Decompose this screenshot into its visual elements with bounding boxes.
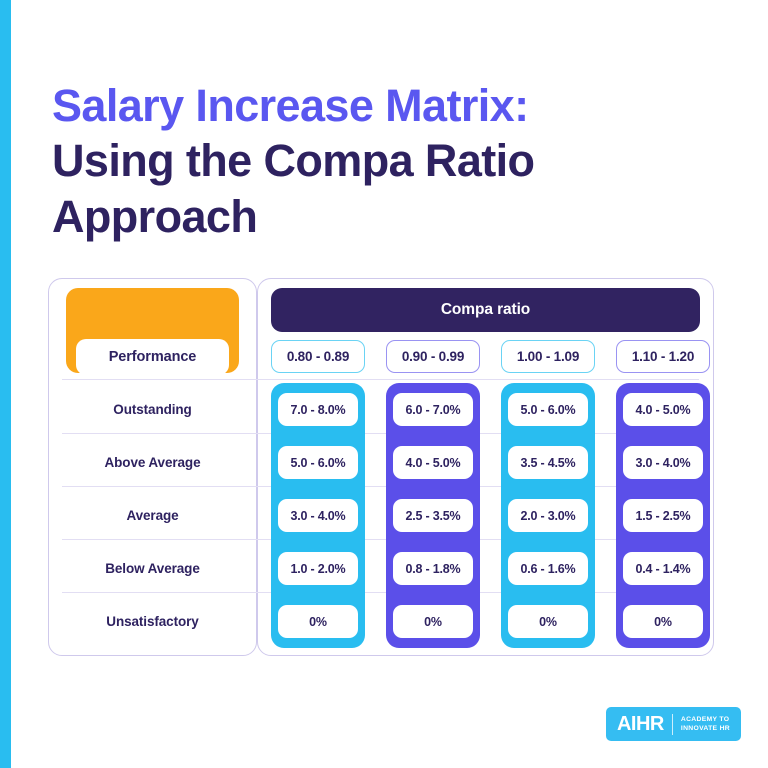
aihr-logo-tagline-line-1: ACADEMY TO xyxy=(681,716,729,723)
page-title-line-2: Using the Compa Ratio xyxy=(52,135,534,186)
matrix-cell: 0.8 - 1.8% xyxy=(393,552,473,585)
column-header-2: 1.00 - 1.09 xyxy=(501,340,595,373)
matrix-cell: 1.0 - 2.0% xyxy=(278,552,358,585)
salary-increase-matrix: Performance Compa ratio Outstanding Abov… xyxy=(48,278,714,656)
column-track-1: 6.0 - 7.0% 4.0 - 5.0% 2.5 - 3.5% 0.8 - 1… xyxy=(386,383,480,648)
row-divider xyxy=(62,379,699,380)
matrix-cell: 2.5 - 3.5% xyxy=(393,499,473,532)
matrix-cell: 4.0 - 5.0% xyxy=(393,446,473,479)
column-header-3: 1.10 - 1.20 xyxy=(616,340,710,373)
matrix-cell: 7.0 - 8.0% xyxy=(278,393,358,426)
matrix-cell: 0.6 - 1.6% xyxy=(508,552,588,585)
column-header-0: 0.80 - 0.89 xyxy=(271,340,365,373)
matrix-cell: 1.5 - 2.5% xyxy=(623,499,703,532)
performance-header-label: Performance xyxy=(76,339,229,375)
compa-ratio-header-label: Compa ratio xyxy=(271,288,700,332)
performance-row-label: Above Average xyxy=(62,436,243,489)
matrix-cell: 6.0 - 7.0% xyxy=(393,393,473,426)
matrix-cell: 3.0 - 4.0% xyxy=(278,499,358,532)
aihr-logo-tagline: ACADEMY TO INNOVATE HR xyxy=(681,715,730,733)
aihr-logo: AIHR ACADEMY TO INNOVATE HR xyxy=(606,707,741,741)
matrix-cell: 0.4 - 1.4% xyxy=(623,552,703,585)
matrix-cell: 0% xyxy=(278,605,358,638)
matrix-cell: 5.0 - 6.0% xyxy=(508,393,588,426)
column-track-3: 4.0 - 5.0% 3.0 - 4.0% 1.5 - 2.5% 0.4 - 1… xyxy=(616,383,710,648)
left-accent-bar xyxy=(0,0,11,768)
performance-row-label: Outstanding xyxy=(62,383,243,436)
performance-row-label: Unsatisfactory xyxy=(62,595,243,648)
column-track-2: 5.0 - 6.0% 3.5 - 4.5% 2.0 - 3.0% 0.6 - 1… xyxy=(501,383,595,648)
page-title-line-3: Approach xyxy=(52,191,257,242)
page-title-line-1: Salary Increase Matrix: xyxy=(52,80,528,131)
matrix-cell: 0% xyxy=(393,605,473,638)
matrix-cell: 5.0 - 6.0% xyxy=(278,446,358,479)
matrix-cell: 3.5 - 4.5% xyxy=(508,446,588,479)
matrix-cell: 0% xyxy=(623,605,703,638)
logo-divider xyxy=(672,714,673,735)
column-header-1: 0.90 - 0.99 xyxy=(386,340,480,373)
matrix-cell: 0% xyxy=(508,605,588,638)
aihr-logo-wordmark: AIHR xyxy=(617,714,664,734)
matrix-cell: 3.0 - 4.0% xyxy=(623,446,703,479)
matrix-cell: 4.0 - 5.0% xyxy=(623,393,703,426)
page-title: Salary Increase Matrix: Using the Compa … xyxy=(52,78,712,244)
aihr-logo-tagline-line-2: INNOVATE HR xyxy=(681,725,730,732)
performance-row-label: Below Average xyxy=(62,542,243,595)
column-track-0: 7.0 - 8.0% 5.0 - 6.0% 3.0 - 4.0% 1.0 - 2… xyxy=(271,383,365,648)
matrix-cell: 2.0 - 3.0% xyxy=(508,499,588,532)
performance-row-label: Average xyxy=(62,489,243,542)
